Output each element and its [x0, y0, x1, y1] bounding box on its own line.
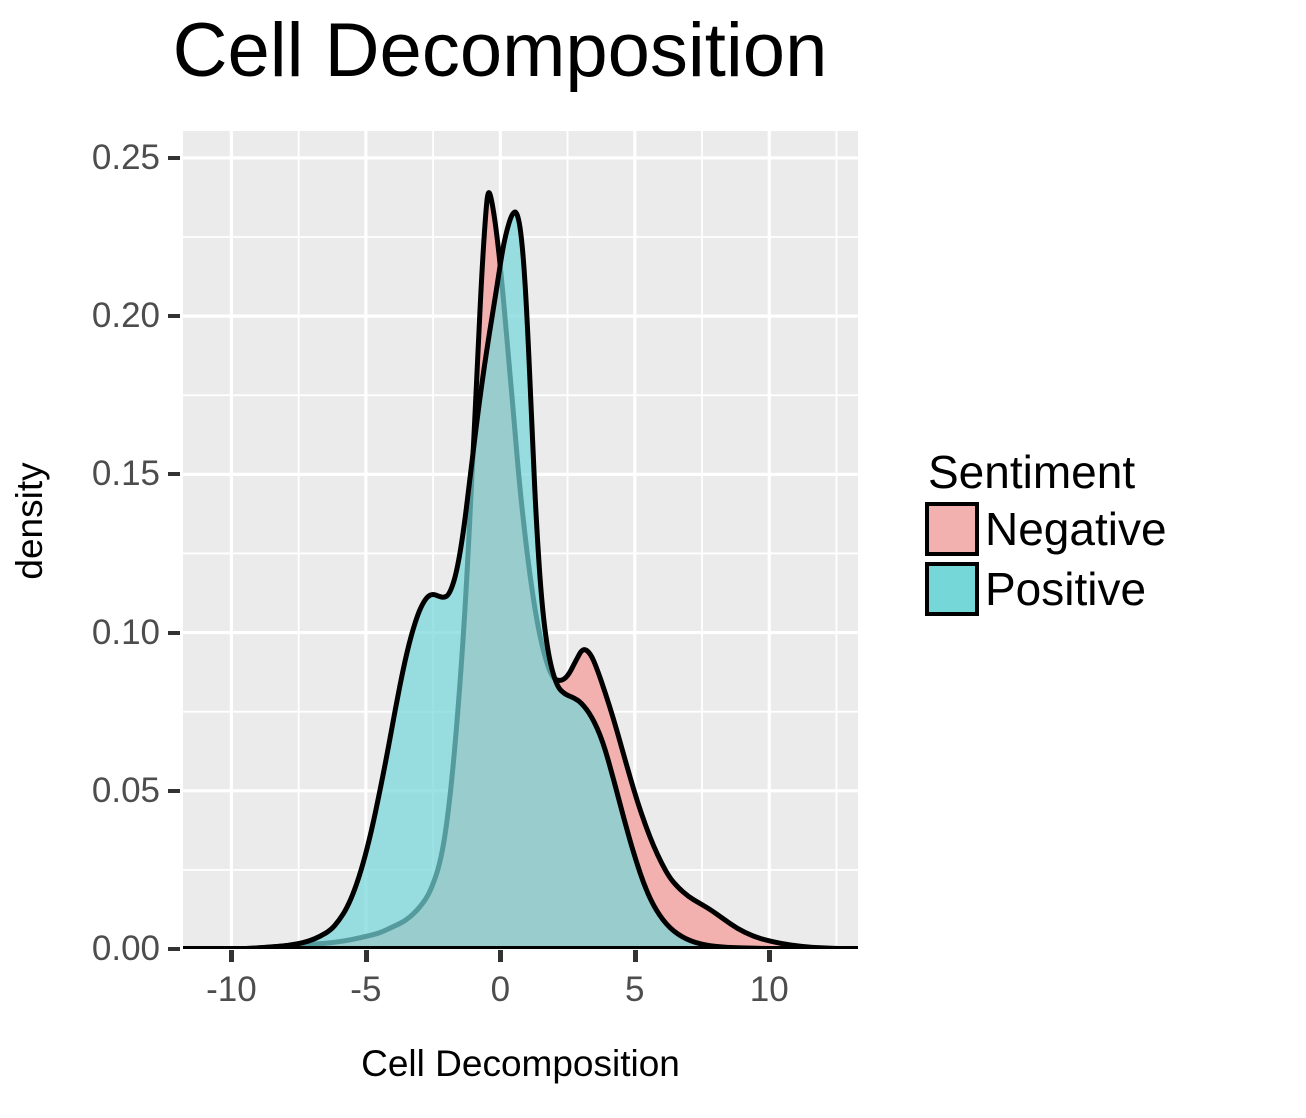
plot-panel — [183, 131, 858, 949]
density-plot: Cell Decomposition 0.000.050.100.150.200… — [0, 0, 1306, 1118]
y-tick-mark — [168, 472, 180, 476]
y-tick-mark — [168, 947, 180, 951]
y-tick-mark — [168, 314, 180, 318]
legend-title: Sentiment — [928, 445, 1167, 499]
legend-item-positive[interactable]: Positive — [925, 559, 1167, 619]
y-tick-label: 0.00 — [60, 931, 160, 966]
y-axis-title: density — [9, 421, 51, 621]
legend-swatch-icon — [925, 562, 979, 616]
legend-item-negative[interactable]: Negative — [925, 499, 1167, 559]
series-areas — [183, 193, 858, 949]
y-tick-mark — [168, 789, 180, 793]
legend-swatch-icon — [925, 502, 979, 556]
x-tick-label: -5 — [306, 972, 426, 1007]
legend-item-label: Positive — [985, 562, 1146, 616]
y-tick-mark — [168, 631, 180, 635]
x-tick-label: 0 — [440, 972, 560, 1007]
y-tick-label: 0.15 — [60, 456, 160, 491]
x-tick-label: -10 — [171, 972, 291, 1007]
y-tick-mark — [168, 156, 180, 160]
legend: Sentiment NegativePositive — [925, 445, 1167, 619]
y-tick-label: 0.25 — [60, 140, 160, 175]
x-tick-mark — [229, 950, 234, 962]
x-tick-mark — [498, 950, 503, 962]
density-curves — [183, 131, 858, 949]
legend-item-label: Negative — [985, 502, 1167, 556]
x-tick-mark — [633, 950, 638, 962]
x-tick-label: 10 — [709, 972, 829, 1007]
x-tick-mark — [767, 950, 772, 962]
x-tick-label: 5 — [575, 972, 695, 1007]
x-tick-mark — [364, 950, 369, 962]
y-tick-label: 0.10 — [60, 615, 160, 650]
x-axis-title: Cell Decomposition — [183, 1043, 858, 1085]
series-area-positive — [183, 212, 858, 949]
page-title: Cell Decomposition — [0, 8, 1000, 94]
y-tick-label: 0.05 — [60, 773, 160, 808]
legend-items: NegativePositive — [925, 499, 1167, 619]
y-tick-label: 0.20 — [60, 298, 160, 333]
